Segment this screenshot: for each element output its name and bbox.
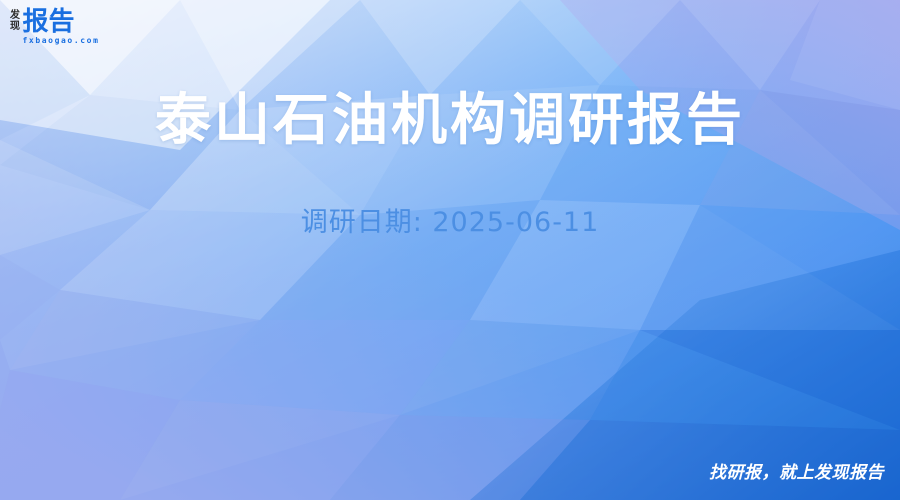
logo-wordmark: 报告 [23,9,100,35]
footer-slogan: 找研报，就上发现报告 [709,463,884,483]
low-poly-background [0,0,900,500]
brand-logo[interactable]: 发 现 报告 fxbaogao.com [10,9,100,46]
logo-text-group: 报告 fxbaogao.com [23,9,100,46]
logo-mark-line2: 现 [10,21,20,32]
report-cover: 发 现 报告 fxbaogao.com 泰山石油机构调研报告 调研日期: 202… [0,0,900,500]
logo-mark-line1: 发 [10,10,20,21]
logo-mark-icon: 发 现 [10,9,20,32]
logo-domain: fxbaogao.com [23,36,100,46]
